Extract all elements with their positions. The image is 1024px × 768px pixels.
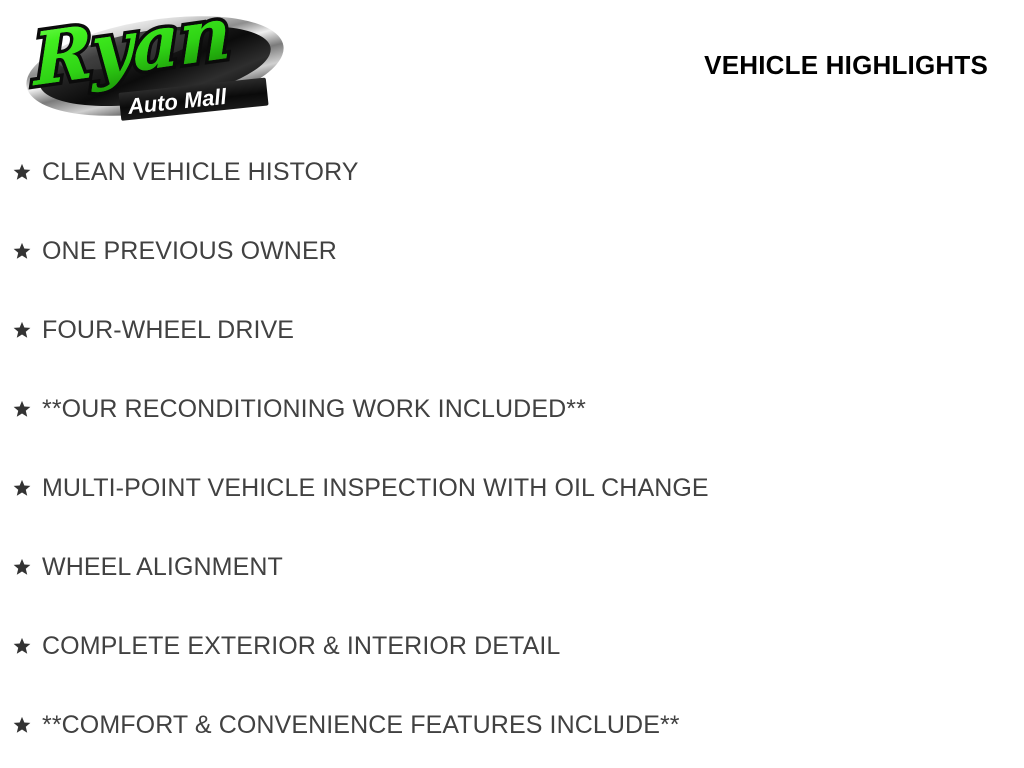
dealer-logo[interactable]: Ryan Ryan Auto Mall xyxy=(16,10,294,122)
star-icon xyxy=(13,242,31,260)
list-item-label: CLEAN VEHICLE HISTORY xyxy=(42,160,359,185)
list-item-label: WHEEL ALIGNMENT xyxy=(42,555,283,580)
star-icon xyxy=(13,321,31,339)
list-item: ONE PREVIOUS OWNER xyxy=(0,212,1024,291)
list-item: MULTI-POINT VEHICLE INSPECTION WITH OIL … xyxy=(0,449,1024,528)
list-item-label: FOUR-WHEEL DRIVE xyxy=(42,318,294,343)
star-icon xyxy=(13,163,31,181)
list-item-label: **COMFORT & CONVENIENCE FEATURES INCLUDE… xyxy=(42,713,680,738)
list-item: **OUR RECONDITIONING WORK INCLUDED** xyxy=(0,370,1024,449)
list-item: CLEAN VEHICLE HISTORY xyxy=(0,133,1024,212)
star-icon xyxy=(13,716,31,734)
list-item-label: **OUR RECONDITIONING WORK INCLUDED** xyxy=(42,397,586,422)
star-icon xyxy=(13,637,31,655)
list-item: FOUR-WHEEL DRIVE xyxy=(0,291,1024,370)
page-header: Ryan Ryan Auto Mall VEHICLE HIGHLIGHTS xyxy=(0,0,1024,130)
list-item: COMPLETE EXTERIOR & INTERIOR DETAIL xyxy=(0,607,1024,686)
star-icon xyxy=(13,400,31,418)
vehicle-highlights-list: CLEAN VEHICLE HISTORY ONE PREVIOUS OWNER… xyxy=(0,133,1024,765)
page-title: VEHICLE HIGHLIGHTS xyxy=(704,50,988,81)
list-item: **COMFORT & CONVENIENCE FEATURES INCLUDE… xyxy=(0,686,1024,765)
list-item: WHEEL ALIGNMENT xyxy=(0,528,1024,607)
star-icon xyxy=(13,479,31,497)
list-item-label: ONE PREVIOUS OWNER xyxy=(42,239,337,264)
list-item-label: COMPLETE EXTERIOR & INTERIOR DETAIL xyxy=(42,634,560,659)
star-icon xyxy=(13,558,31,576)
list-item-label: MULTI-POINT VEHICLE INSPECTION WITH OIL … xyxy=(42,476,709,501)
